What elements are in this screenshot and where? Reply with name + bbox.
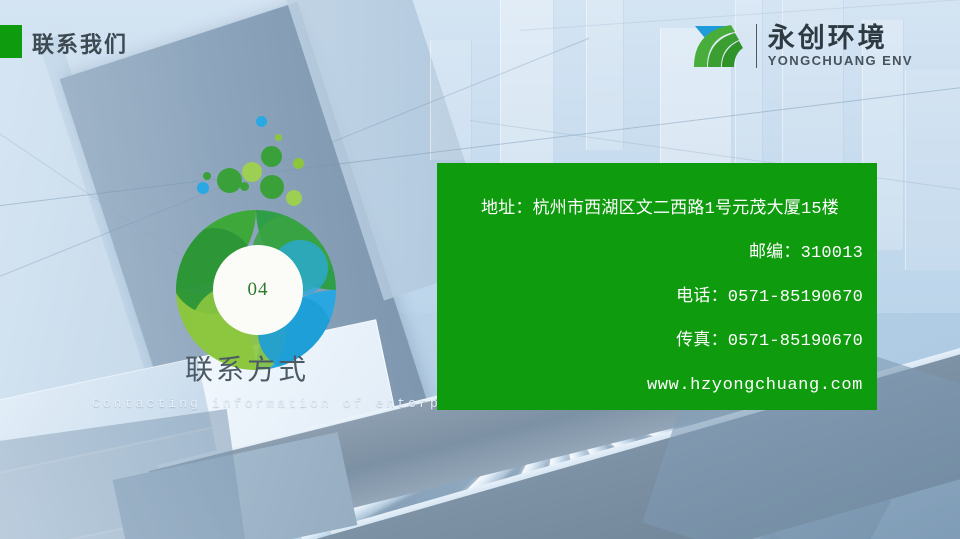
section-number-text: 04: [248, 279, 269, 301]
contact-postcode: 邮编：310013: [457, 245, 863, 262]
decorative-bubble: [242, 162, 262, 182]
logo-name-en: YONGCHUANG ENV: [768, 53, 913, 69]
background-glass-panel: [905, 70, 960, 270]
background-glass-panel: [500, 0, 554, 180]
decorative-bubble: [203, 172, 211, 180]
section-title-en: Contacting information of enterprise: [92, 396, 484, 411]
decorative-bubble: [240, 182, 249, 191]
decorative-bubble: [217, 168, 242, 193]
decorative-bubble: [261, 146, 282, 167]
contact-phone: 电话：0571-85190670: [457, 289, 863, 306]
decorative-bubble: [293, 158, 304, 169]
slide-canvas: 联系我们 永创环境 YONGCHUANG ENV: [0, 0, 960, 539]
contact-address: 地址：杭州市西湖区文二西路1号元茂大厦15楼: [457, 201, 863, 218]
decorative-bubble: [260, 175, 284, 199]
decorative-bubble: [197, 182, 209, 194]
logo-swoosh-icon: [691, 23, 745, 69]
decorative-bubble: [256, 116, 267, 127]
decorative-bubble: [275, 134, 282, 141]
section-number-badge: 04: [213, 245, 303, 335]
section-title-cn: 联系方式: [185, 348, 309, 388]
contact-website[interactable]: www.hzyongchuang.com: [457, 377, 863, 394]
section-number-graphic: 04: [168, 120, 368, 340]
logo-divider: [756, 24, 757, 68]
company-logo: 永创环境 YONGCHUANG ENV: [691, 22, 913, 70]
decorative-bubble: [286, 190, 302, 206]
logo-name-cn: 永创环境: [768, 24, 913, 52]
contact-info-panel: 地址：杭州市西湖区文二西路1号元茂大厦15楼 邮编：310013 电话：0571…: [437, 163, 877, 410]
contact-fax: 传真：0571-85190670: [457, 333, 863, 350]
logo-wordmark: 永创环境 YONGCHUANG ENV: [768, 24, 913, 69]
page-title: 联系我们: [32, 27, 128, 59]
header-accent-mark: [0, 25, 22, 58]
